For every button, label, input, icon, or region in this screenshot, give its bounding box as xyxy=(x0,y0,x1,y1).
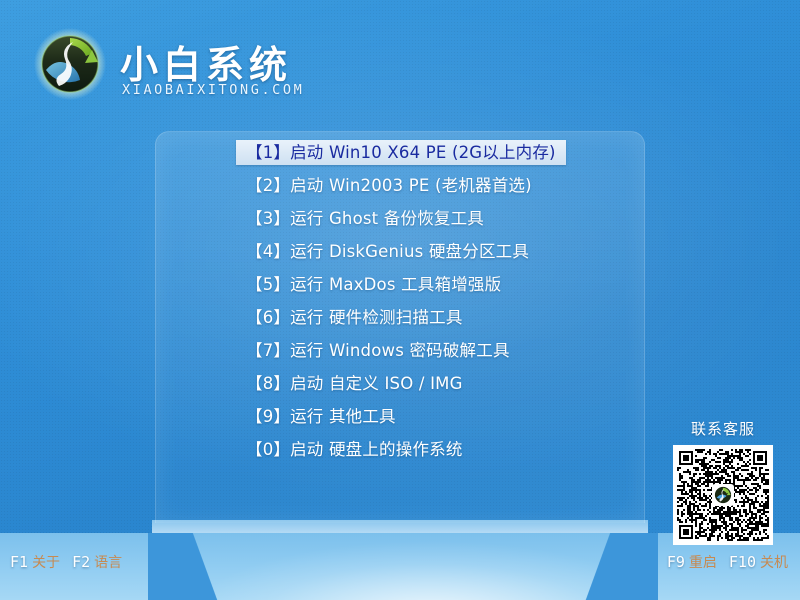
menu-item-3[interactable]: 【3】运行 Ghost 备份恢复工具 xyxy=(236,206,494,231)
menu-item-0[interactable]: 【0】启动 硬盘上的操作系统 xyxy=(236,437,473,462)
menu-item-7[interactable]: 【7】运行 Windows 密码破解工具 xyxy=(236,338,520,363)
fkey-label-f9[interactable]: 重启 xyxy=(689,555,717,571)
recycle-arrow-circle-logo-icon xyxy=(32,26,108,102)
footer-keys-left: F1关于F2语言 xyxy=(10,552,122,572)
fkey-f1[interactable]: F1 xyxy=(10,553,28,571)
fkey-f2[interactable]: F2 xyxy=(72,553,90,571)
menu-item-2[interactable]: 【2】启动 Win2003 PE (老机器首选) xyxy=(236,173,542,198)
fkey-label-f1[interactable]: 关于 xyxy=(32,555,60,571)
footer-keys-right: F9重启F10关机 xyxy=(667,552,788,572)
pedestal-left-bevel xyxy=(148,533,260,600)
customer-support-block: 联系客服 xyxy=(668,418,778,545)
fkey-f10[interactable]: F10 xyxy=(729,553,756,571)
boot-menu-list: 【1】启动 Win10 X64 PE (2G以上内存)【2】启动 Win2003… xyxy=(236,140,566,470)
menu-item-4[interactable]: 【4】运行 DiskGenius 硬盘分区工具 xyxy=(236,239,539,264)
menu-item-5[interactable]: 【5】运行 MaxDos 工具箱增强版 xyxy=(236,272,511,297)
brand-logo: 小白系统 XIAOBAIXITONG.COM xyxy=(28,22,288,106)
menu-item-1[interactable]: 【1】启动 Win10 X64 PE (2G以上内存) xyxy=(236,140,566,165)
fkey-label-f10[interactable]: 关机 xyxy=(760,555,788,571)
brand-name-en: XIAOBAIXITONG.COM xyxy=(122,82,304,98)
qr-center-logo-icon xyxy=(712,484,734,506)
brand-name-cn: 小白系统 xyxy=(120,34,292,89)
menu-item-8[interactable]: 【8】启动 自定义 ISO / IMG xyxy=(236,371,473,396)
boot-menu-screen: 小白系统 XIAOBAIXITONG.COM 【1】启动 Win10 X64 P… xyxy=(0,0,800,600)
qr-code-icon[interactable] xyxy=(673,445,773,545)
menu-item-6[interactable]: 【6】运行 硬件检测扫描工具 xyxy=(236,305,473,330)
fkey-f9[interactable]: F9 xyxy=(667,553,685,571)
menu-item-9[interactable]: 【9】运行 其他工具 xyxy=(236,404,406,429)
fkey-label-f2[interactable]: 语言 xyxy=(94,555,122,571)
pedestal-right-bevel xyxy=(540,533,658,600)
support-title: 联系客服 xyxy=(668,418,778,439)
